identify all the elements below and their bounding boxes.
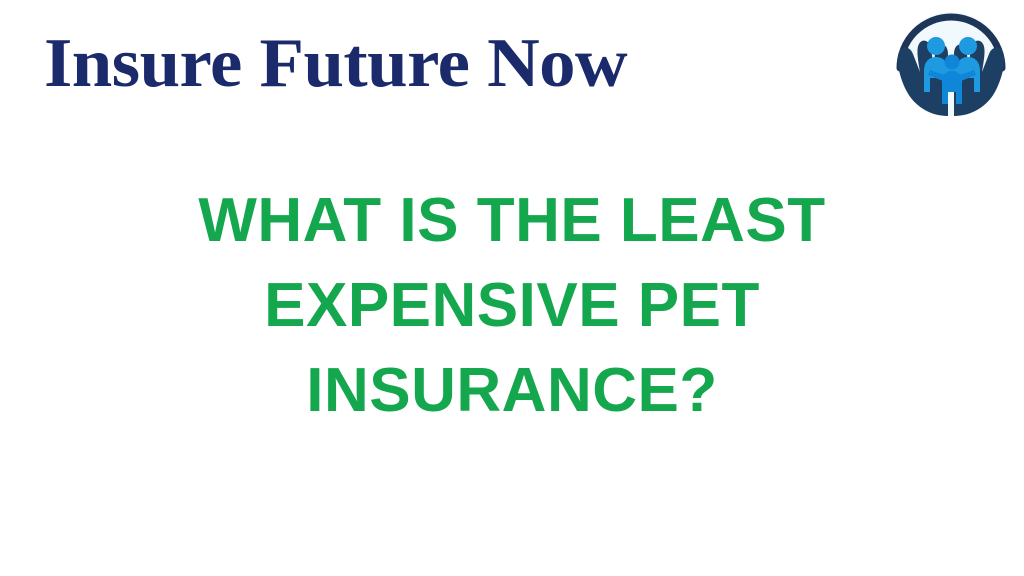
headline-line-2: EXPENSIVE PET [0,263,1024,348]
slide-canvas: Insure Future Now [0,0,1024,576]
headline: WHAT IS THE LEAST EXPENSIVE PET INSURANC… [0,178,1024,433]
headline-line-3: INSURANCE? [0,348,1024,433]
page-title: Insure Future Now [44,27,627,101]
headline-line-1: WHAT IS THE LEAST [0,178,1024,263]
logo-icon [886,4,1016,124]
brand-logo [886,4,1016,124]
